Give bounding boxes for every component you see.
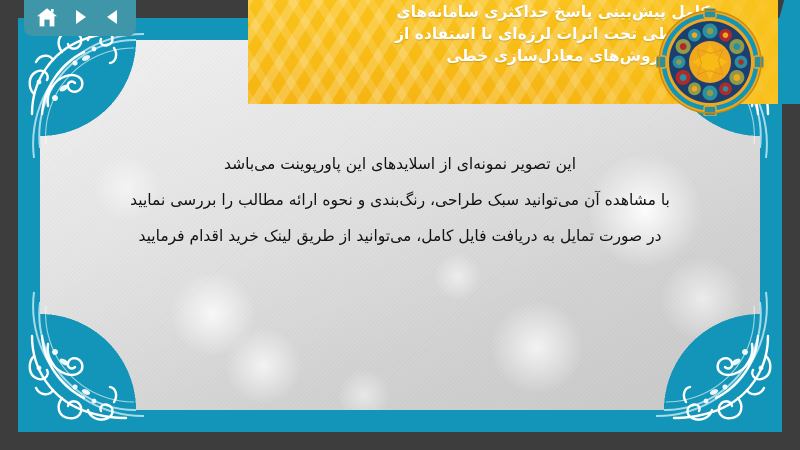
title-line-3: روش‌های معادل‌سازی خطی <box>344 45 762 67</box>
triangle-right-icon <box>70 7 90 27</box>
title-line-1: کامل پیش‌بینی پاسخ حداکثری سامانه‌های <box>344 1 762 23</box>
title-line-2: غیرخطی تحت اثرات لرزه‌ای با استفاده از <box>344 23 762 45</box>
banner-body: کامل پیش‌بینی پاسخ حداکثری سامانه‌های غی… <box>248 0 778 104</box>
body-line-2: با مشاهده آن می‌توانید سبک طراحی، رنگ‌بن… <box>62 182 738 218</box>
home-icon <box>36 7 58 28</box>
next-slide-button[interactable] <box>67 4 93 30</box>
slide-title: کامل پیش‌بینی پاسخ حداکثری سامانه‌های غی… <box>344 1 762 67</box>
banner-tail-accent <box>778 0 800 104</box>
body-line-1: این تصویر نمونه‌ای از اسلایدهای این پاور… <box>62 146 738 182</box>
triangle-left-icon <box>103 7 123 27</box>
slide-viewer-window: این تصویر نمونه‌ای از اسلایدهای این پاور… <box>0 0 800 450</box>
slide-title-banner: کامل پیش‌بینی پاسخ حداکثری سامانه‌های غی… <box>248 0 800 104</box>
previous-slide-button[interactable] <box>100 4 126 30</box>
slide-body-text: این تصویر نمونه‌ای از اسلایدهای این پاور… <box>18 146 782 254</box>
body-line-3: در صورت تمایل به دریافت فایل کامل، می‌تو… <box>62 218 738 254</box>
home-button[interactable] <box>34 4 60 30</box>
navigation-bar <box>24 0 136 36</box>
